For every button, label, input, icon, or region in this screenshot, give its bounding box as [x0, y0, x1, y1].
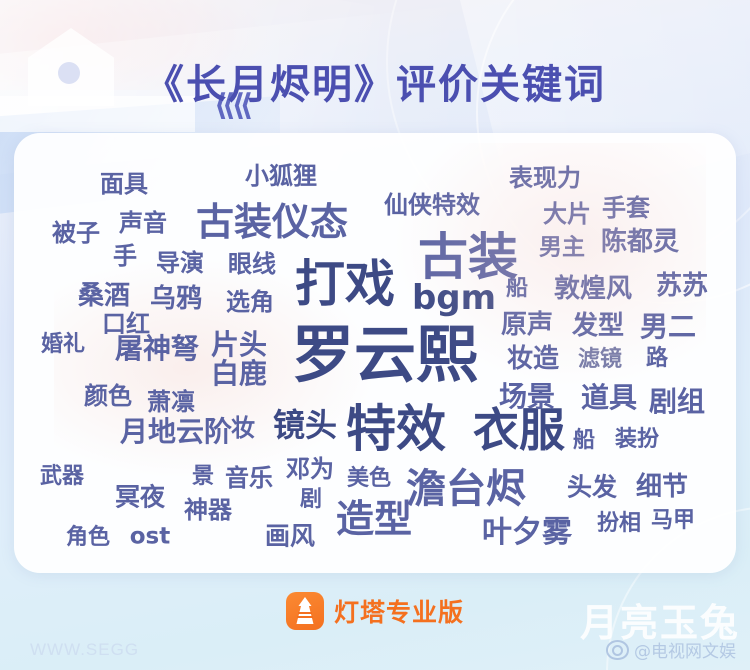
wordcloud-word: 原声 [501, 312, 553, 338]
wordcloud-word: 颜色 [84, 384, 132, 408]
wordcloud-word: bgm [412, 281, 496, 315]
wordcloud-word: 男主 [539, 237, 585, 260]
wordcloud-card: 罗云熙特效打戏古装衣服古装仪态澹台烬造型bgm镜头月地云阶屠神弩道具剧组场景叶夕… [14, 133, 736, 573]
wordcloud-word: 道具 [581, 384, 637, 412]
wordcloud-word: 澹台烬 [406, 469, 526, 509]
wordcloud-word: 场景 [499, 383, 555, 411]
wordcloud-word: 仙侠特效 [384, 193, 480, 217]
wordcloud-word: 导演 [156, 251, 204, 275]
wordcloud-word: 古装仪态 [196, 203, 348, 241]
wordcloud-word: 衣服 [473, 407, 565, 453]
wordcloud-word: 打戏 [295, 259, 395, 309]
wordcloud-word: 扮相 [597, 513, 641, 535]
weibo-icon [606, 640, 629, 660]
wordcloud-word: 手套 [602, 196, 650, 220]
wordcloud-word: 手 [113, 244, 137, 268]
wordcloud-word: 陈都灵 [601, 229, 679, 255]
wordcloud-word: 眼线 [228, 252, 276, 276]
wordcloud-word: 声音 [119, 211, 167, 235]
wordcloud-word: 滤镜 [578, 349, 622, 371]
wordcloud-word: 镜头 [273, 409, 337, 441]
wordcloud-word: 乌鸦 [150, 286, 202, 312]
wordcloud-word: 叶夕雾 [482, 518, 572, 548]
brand-name: 灯塔专业版 [334, 593, 464, 629]
wordcloud-word: 妆造 [507, 346, 559, 372]
wordcloud-word: ost [130, 526, 171, 549]
wordcloud-word: 神器 [184, 498, 232, 522]
wordcloud-word: 选角 [226, 290, 274, 314]
page-title: 《长月烬明》评价关键词 [0, 52, 750, 110]
wordcloud-word: 敦煌风 [554, 276, 632, 302]
wordcloud-word: 发型 [572, 313, 624, 339]
wordcloud-word: 罗云熙 [292, 324, 478, 386]
wordcloud-word: 装扮 [615, 429, 659, 451]
wordcloud-word: 景 [192, 466, 214, 488]
wordcloud-word: 路 [646, 348, 668, 370]
wordcloud-word: 马甲 [651, 510, 695, 532]
wordcloud-word: 被子 [52, 221, 100, 245]
wordcloud-word: 萧凛 [147, 390, 195, 414]
wordcloud-word: 白鹿 [211, 360, 267, 388]
wordcloud-word: 美色 [347, 468, 391, 490]
wordcloud-word: 角色 [66, 527, 110, 549]
wordcloud-word: 武器 [40, 466, 84, 488]
wordcloud-word: 口红 [102, 312, 150, 336]
wordcloud-word: 画风 [265, 524, 315, 549]
wordcloud-words: 罗云熙特效打戏古装衣服古装仪态澹台烬造型bgm镜头月地云阶屠神弩道具剧组场景叶夕… [14, 133, 736, 573]
wordcloud-word: 屠神弩 [115, 335, 199, 363]
wordcloud-word: 婚礼 [41, 334, 85, 356]
wordcloud-word: 月地云阶 [120, 418, 232, 446]
watermark-handle: @电视网文娱 [606, 637, 736, 662]
wordcloud-word: 古装 [418, 232, 518, 282]
wordcloud-word: 特效 [346, 404, 446, 454]
wordcloud-word: 船 [573, 430, 595, 452]
wordcloud-word: 邓为 [286, 457, 334, 481]
wordcloud-word: 造型 [336, 500, 412, 538]
wordcloud-word: 桑酒 [78, 283, 130, 309]
wordcloud-word: 音乐 [225, 466, 273, 490]
watermark-url: WWW.SEGG [30, 640, 139, 660]
brand-footer: 灯塔专业版 [0, 592, 750, 630]
wordcloud-word: 剧 [300, 489, 322, 511]
wordcloud-word: 表现力 [509, 166, 581, 190]
wordcloud-word: 小狐狸 [245, 164, 317, 188]
wordcloud-word: 妆 [231, 416, 255, 440]
wordcloud-word: 面具 [100, 172, 148, 196]
watermark-handle-text: @电视网文娱 [634, 637, 736, 662]
wordcloud-word: 冥夜 [115, 485, 165, 510]
wordcloud-word: 男二 [640, 313, 696, 341]
lighthouse-icon [286, 592, 324, 630]
wordcloud-word: 船 [506, 278, 528, 300]
wordcloud-word: 剧组 [649, 388, 705, 416]
wordcloud-word: 苏苏 [656, 273, 708, 299]
wordcloud-word: 片头 [211, 331, 267, 359]
wordcloud-word: 头发 [567, 475, 617, 500]
wordcloud-word: 细节 [636, 474, 688, 500]
wordcloud-word: 大片 [543, 202, 591, 226]
